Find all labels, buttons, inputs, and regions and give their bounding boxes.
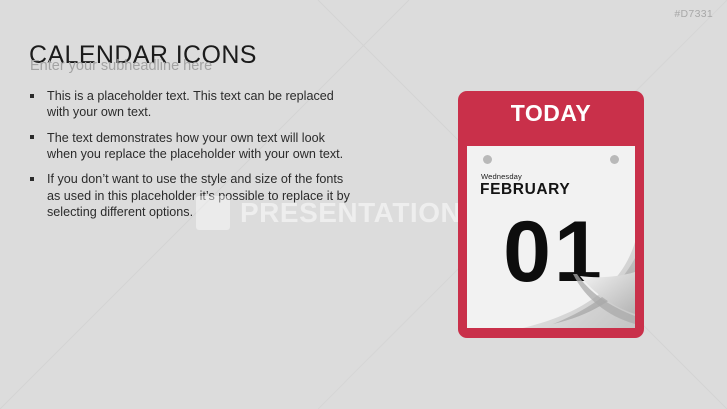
list-item: This is a placeholder text. This text ca… bbox=[29, 88, 351, 121]
list-item: The text demonstrates how your own text … bbox=[29, 130, 351, 163]
list-item-text: This is a placeholder text. This text ca… bbox=[47, 89, 334, 119]
page-subtitle: Enter your subheadline here bbox=[30, 58, 212, 74]
square-bullet-icon bbox=[30, 177, 34, 181]
square-bullet-icon bbox=[30, 135, 34, 139]
list-item-text: The text demonstrates how your own text … bbox=[47, 131, 343, 161]
calendar-graphic: TODAY Wednesday FEBRUARY 01 bbox=[458, 91, 644, 338]
calendar-header-label: TODAY bbox=[458, 100, 644, 127]
slide-id-label: #D7331 bbox=[674, 8, 713, 20]
slide-canvas: #D7331 CALENDAR ICONS Enter your subhead… bbox=[0, 0, 727, 409]
calendar-hole-left-icon bbox=[483, 155, 492, 164]
calendar-month: FEBRUARY bbox=[480, 181, 570, 199]
list-item: If you don’t want to use the style and s… bbox=[29, 171, 351, 220]
square-bullet-icon bbox=[30, 94, 34, 98]
body-bullet-list: This is a placeholder text. This text ca… bbox=[29, 88, 351, 221]
calendar-hole-right-icon bbox=[610, 155, 619, 164]
calendar-weekday: Wednesday bbox=[481, 172, 522, 181]
list-item-text: If you don’t want to use the style and s… bbox=[47, 172, 350, 219]
calendar-page: Wednesday FEBRUARY 01 bbox=[467, 146, 635, 328]
calendar-day-number: 01 bbox=[479, 198, 629, 306]
